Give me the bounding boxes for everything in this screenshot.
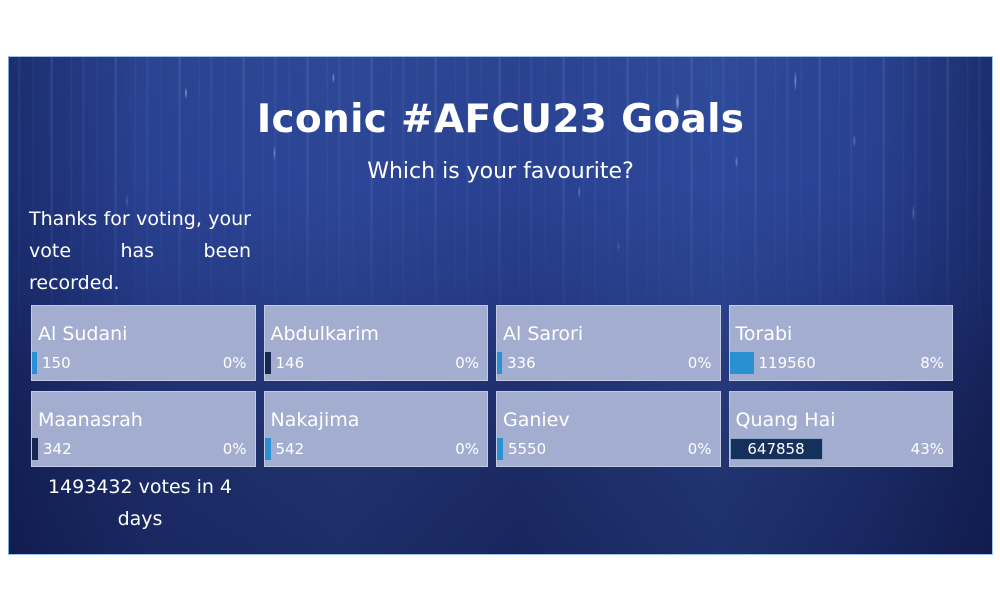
poll-option-card[interactable]: Al Sudani1500%	[31, 305, 256, 381]
poll-option-label: Al Sudani	[38, 323, 127, 345]
total-votes-label: 1493432 votes in 4 days	[29, 471, 251, 535]
poll-option-card[interactable]: Maanasrah3420%	[31, 391, 256, 467]
poll-option-vote-count: 647858	[730, 439, 823, 459]
poll-option-bar	[32, 438, 38, 460]
poll-option-meter: 1460%	[265, 352, 488, 374]
poll-option-label: Maanasrah	[38, 409, 143, 431]
poll-option-bar	[730, 352, 754, 374]
thanks-message-text: Thanks for voting, your vote has been re…	[29, 208, 251, 294]
poll-option-percent: 0%	[455, 353, 479, 373]
poll-option-percent: 0%	[455, 439, 479, 459]
poll-option-vote-count: 336	[507, 353, 536, 373]
poll-option-label: Al Sarori	[503, 323, 583, 345]
poll-option-vote-count: 342	[43, 439, 72, 459]
poll-option-vote-count: 150	[42, 353, 71, 373]
poll-option-percent: 8%	[920, 353, 944, 373]
poll-option-card[interactable]: Nakajima5420%	[264, 391, 489, 467]
poll-option-vote-count: 5550	[508, 439, 546, 459]
poll-option-label: Nakajima	[271, 409, 360, 431]
poll-option-bar	[497, 438, 503, 460]
poll-option-meter: 55500%	[497, 438, 720, 460]
poll-option-meter: 3420%	[32, 438, 255, 460]
poll-option-card[interactable]: Al Sarori3360%	[496, 305, 721, 381]
poll-option-card[interactable]: Ganiev55500%	[496, 391, 721, 467]
poll-option-percent: 0%	[223, 353, 247, 373]
poll-option-label: Ganiev	[503, 409, 570, 431]
poll-option-bar	[497, 352, 502, 374]
poll-option-card[interactable]: Abdulkarim1460%	[264, 305, 489, 381]
poll-option-meter: 1195608%	[730, 352, 953, 374]
poll-option-vote-count: 146	[276, 353, 305, 373]
poll-option-bar	[265, 352, 271, 374]
thanks-message: Thanks for voting, your vote has been re…	[29, 203, 251, 299]
poll-option-vote-count: 119560	[759, 353, 816, 373]
poll-option-label: Quang Hai	[736, 409, 836, 431]
poll-option-percent: 0%	[688, 353, 712, 373]
poll-option-percent: 0%	[688, 439, 712, 459]
poll-option-meter: 5420%	[265, 438, 488, 460]
poll-slide: Iconic #AFCU23 Goals Which is your favou…	[8, 56, 993, 555]
poll-option-vote-count: 542	[276, 439, 305, 459]
page-subtitle: Which is your favourite?	[9, 159, 992, 184]
poll-option-percent: 0%	[223, 439, 247, 459]
poll-option-label: Abdulkarim	[271, 323, 379, 345]
poll-option-meter: 3360%	[497, 352, 720, 374]
page-title: Iconic #AFCU23 Goals	[9, 97, 992, 142]
poll-option-meter: 64785843%	[730, 438, 953, 460]
poll-option-meter: 1500%	[32, 352, 255, 374]
poll-option-bar	[265, 438, 271, 460]
poll-option-label: Torabi	[736, 323, 793, 345]
poll-option-percent: 43%	[911, 439, 944, 459]
poll-option-card[interactable]: Quang Hai64785843%	[729, 391, 954, 467]
poll-option-card[interactable]: Torabi1195608%	[729, 305, 954, 381]
poll-option-bar	[32, 352, 37, 374]
poll-options-grid: Al Sudani1500%Abdulkarim1460%Al Sarori33…	[31, 305, 953, 467]
